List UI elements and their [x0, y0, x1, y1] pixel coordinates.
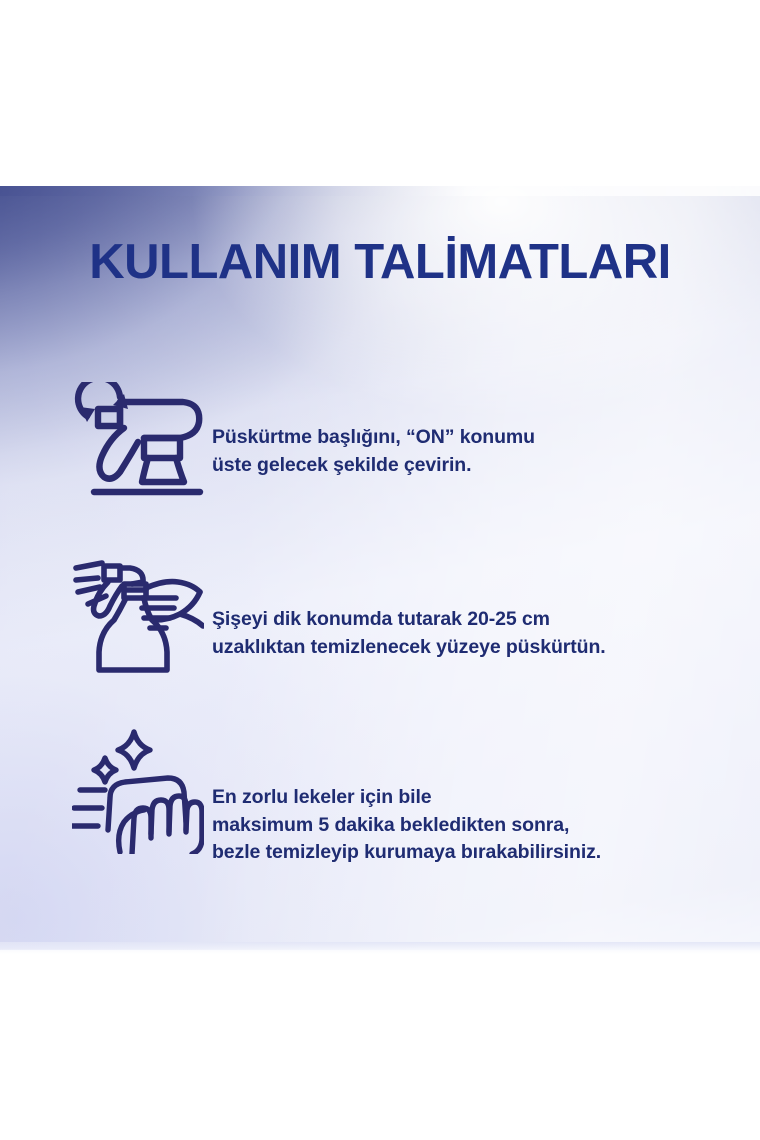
instruction-step-2: Şişeyi dik konumda tutarak 20-25 cm uzak…: [72, 554, 732, 676]
step-1-icon-wrap: [72, 382, 212, 498]
hand-wiping-cloth-sparkle-icon: [72, 726, 204, 854]
step-2-icon-wrap: [72, 554, 212, 676]
step-1-text: Püskürtme başlığını, “ON” konumu üste ge…: [212, 382, 732, 479]
sparkle-large-icon: [118, 732, 150, 768]
instruction-step-3: En zorlu lekeler için bile maksimum 5 da…: [72, 726, 732, 867]
step-2-text: Şişeyi dik konumda tutarak 20-25 cm uzak…: [212, 554, 732, 661]
hand-spraying-bottle-icon: [72, 554, 204, 676]
instruction-step-1: Püskürtme başlığını, “ON” konumu üste ge…: [72, 382, 732, 498]
page-title: KULLANIM TALİMATLARI: [0, 238, 760, 287]
step-3-icon-wrap: [72, 726, 212, 854]
sparkle-small-icon: [94, 758, 116, 782]
step-3-text: En zorlu lekeler için bile maksimum 5 da…: [212, 726, 732, 867]
instructions-graphic: KULLANIM TALİMATLARI: [0, 0, 760, 1140]
panel-content: KULLANIM TALİMATLARI: [0, 186, 760, 950]
spray-head-rotate-icon: [72, 382, 204, 498]
